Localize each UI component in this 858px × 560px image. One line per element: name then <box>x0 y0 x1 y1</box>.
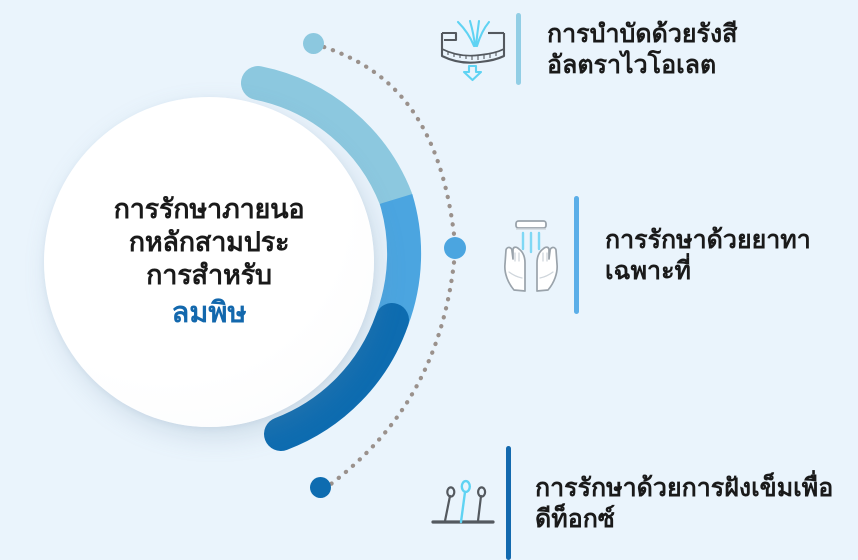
hands-lotion-icon <box>488 212 574 298</box>
center-title-line-2: กหลักสามประ <box>59 227 359 260</box>
item-label-topical: การรักษาด้วยยาทาเฉพาะที่ <box>605 224 858 287</box>
item-label-uv: การบำบัดด้วยรังสีอัลตราไวโอเลต <box>547 18 847 81</box>
center-title-line-3: การสำหรับ <box>59 260 359 293</box>
arc-segment-topical <box>392 199 404 320</box>
item-topical-medication[interactable]: การรักษาด้วยยาทาเฉพาะที่ <box>488 196 858 314</box>
center-circle: การรักษาภายนอ กหลักสามประ การสำหรับ ลมพิ… <box>44 97 374 427</box>
acupuncture-needles-icon <box>420 465 506 541</box>
uv-skin-rays-icon <box>430 6 516 92</box>
item-uv-therapy[interactable]: การบำบัดด้วยรังสีอัลตราไวโอเลต <box>430 6 847 92</box>
node-dot-acupuncture <box>310 477 331 498</box>
item-label-acupuncture: การรักษาด้วยการฝังเข็มเพื่อดีท็อกซ์ <box>535 472 835 535</box>
item-divider-topical <box>574 196 579 314</box>
node-dot-uv <box>303 33 324 54</box>
node-dot-topical <box>444 237 466 259</box>
center-title-block: การรักษาภายนอ กหลักสามประ การสำหรับ ลมพิ… <box>59 194 359 330</box>
center-highlight-term: ลมพิษ <box>59 295 359 330</box>
item-acupuncture-detox[interactable]: การรักษาด้วยการฝังเข็มเพื่อดีท็อกซ์ <box>420 446 835 560</box>
item-divider-acupuncture <box>506 446 511 560</box>
center-title-line-1: การรักษาภายนอ <box>59 194 359 227</box>
item-divider-uv <box>516 13 521 85</box>
infographic-canvas: การรักษาภายนอ กหลักสามประ การสำหรับ ลมพิ… <box>0 0 858 550</box>
